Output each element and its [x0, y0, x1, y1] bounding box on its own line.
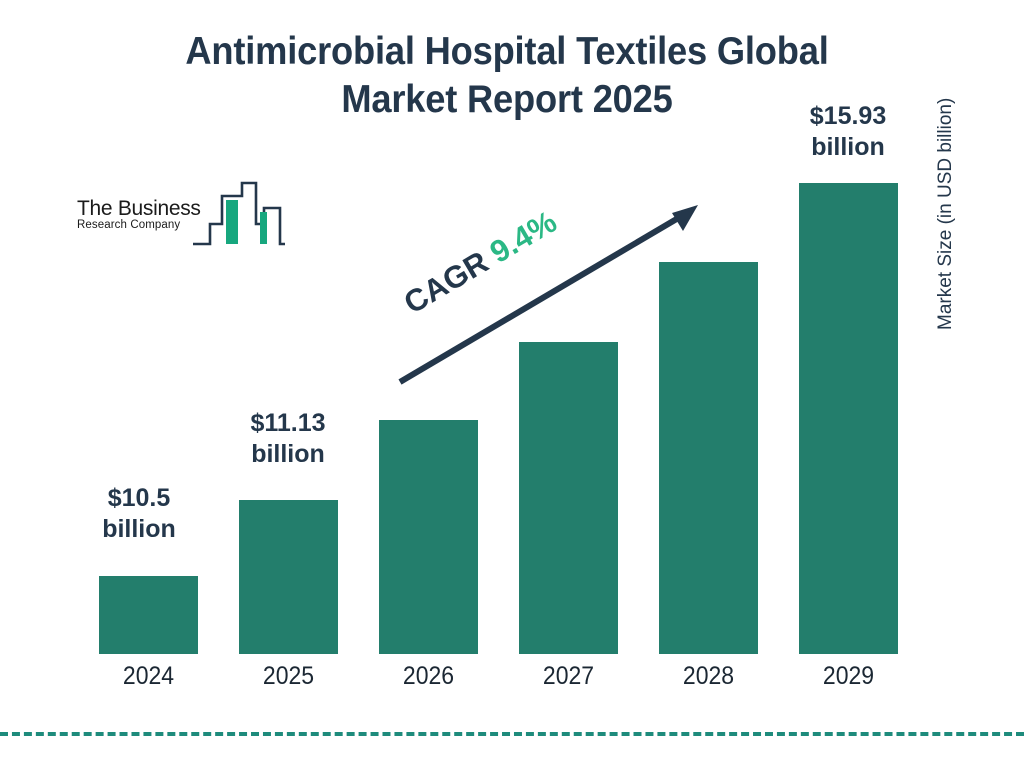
bar-value-2025-amount: $11.13: [250, 409, 325, 437]
cagr-label-word: CAGR: [398, 244, 494, 320]
bar-2025: [239, 500, 338, 654]
footer-divider: [0, 732, 1024, 736]
bar-value-2029-unit: billion: [782, 132, 914, 163]
bar-2026: [379, 420, 478, 654]
bar-2027: [519, 342, 618, 654]
bar-value-2024-unit: billion: [79, 514, 199, 545]
bar-2024: [99, 576, 198, 654]
xtick-2027: 2027: [523, 662, 614, 691]
title-line-1: Antimicrobial Hospital Textiles Global: [140, 28, 875, 76]
bar-value-2029: $15.93 billion: [782, 101, 914, 163]
page-title: Antimicrobial Hospital Textiles Global M…: [140, 28, 875, 124]
xtick-2028: 2028: [663, 662, 754, 691]
bar-2028: [659, 262, 758, 654]
xtick-2029: 2029: [803, 662, 894, 691]
brand-logo-line-1: The Business: [77, 198, 209, 219]
bar-chart-logo-icon: [192, 180, 286, 250]
brand-logo-text: The Business Research Company: [77, 198, 209, 232]
bar-value-2029-amount: $15.93: [810, 102, 886, 130]
bar-value-2025-unit: billion: [222, 439, 354, 470]
xtick-2024: 2024: [103, 662, 194, 691]
cagr-label-value: 9.4%: [484, 204, 563, 270]
brand-logo-line-2: Research Company: [77, 220, 209, 232]
bar-2029: [799, 183, 898, 654]
bar-value-2024: $10.5 billion: [79, 483, 199, 545]
chart-canvas: Antimicrobial Hospital Textiles Global M…: [0, 0, 1024, 768]
xtick-2025: 2025: [243, 662, 334, 691]
cagr-annotation: CAGR 9.4%: [398, 204, 563, 322]
title-line-2: Market Report 2025: [140, 76, 875, 124]
xtick-2026: 2026: [383, 662, 474, 691]
brand-logo: The Business Research Company: [74, 180, 286, 250]
y-axis-label: Market Size (in USD billion): [935, 10, 957, 330]
bar-value-2025: $11.13 billion: [222, 408, 354, 470]
bar-value-2024-amount: $10.5: [108, 484, 171, 512]
